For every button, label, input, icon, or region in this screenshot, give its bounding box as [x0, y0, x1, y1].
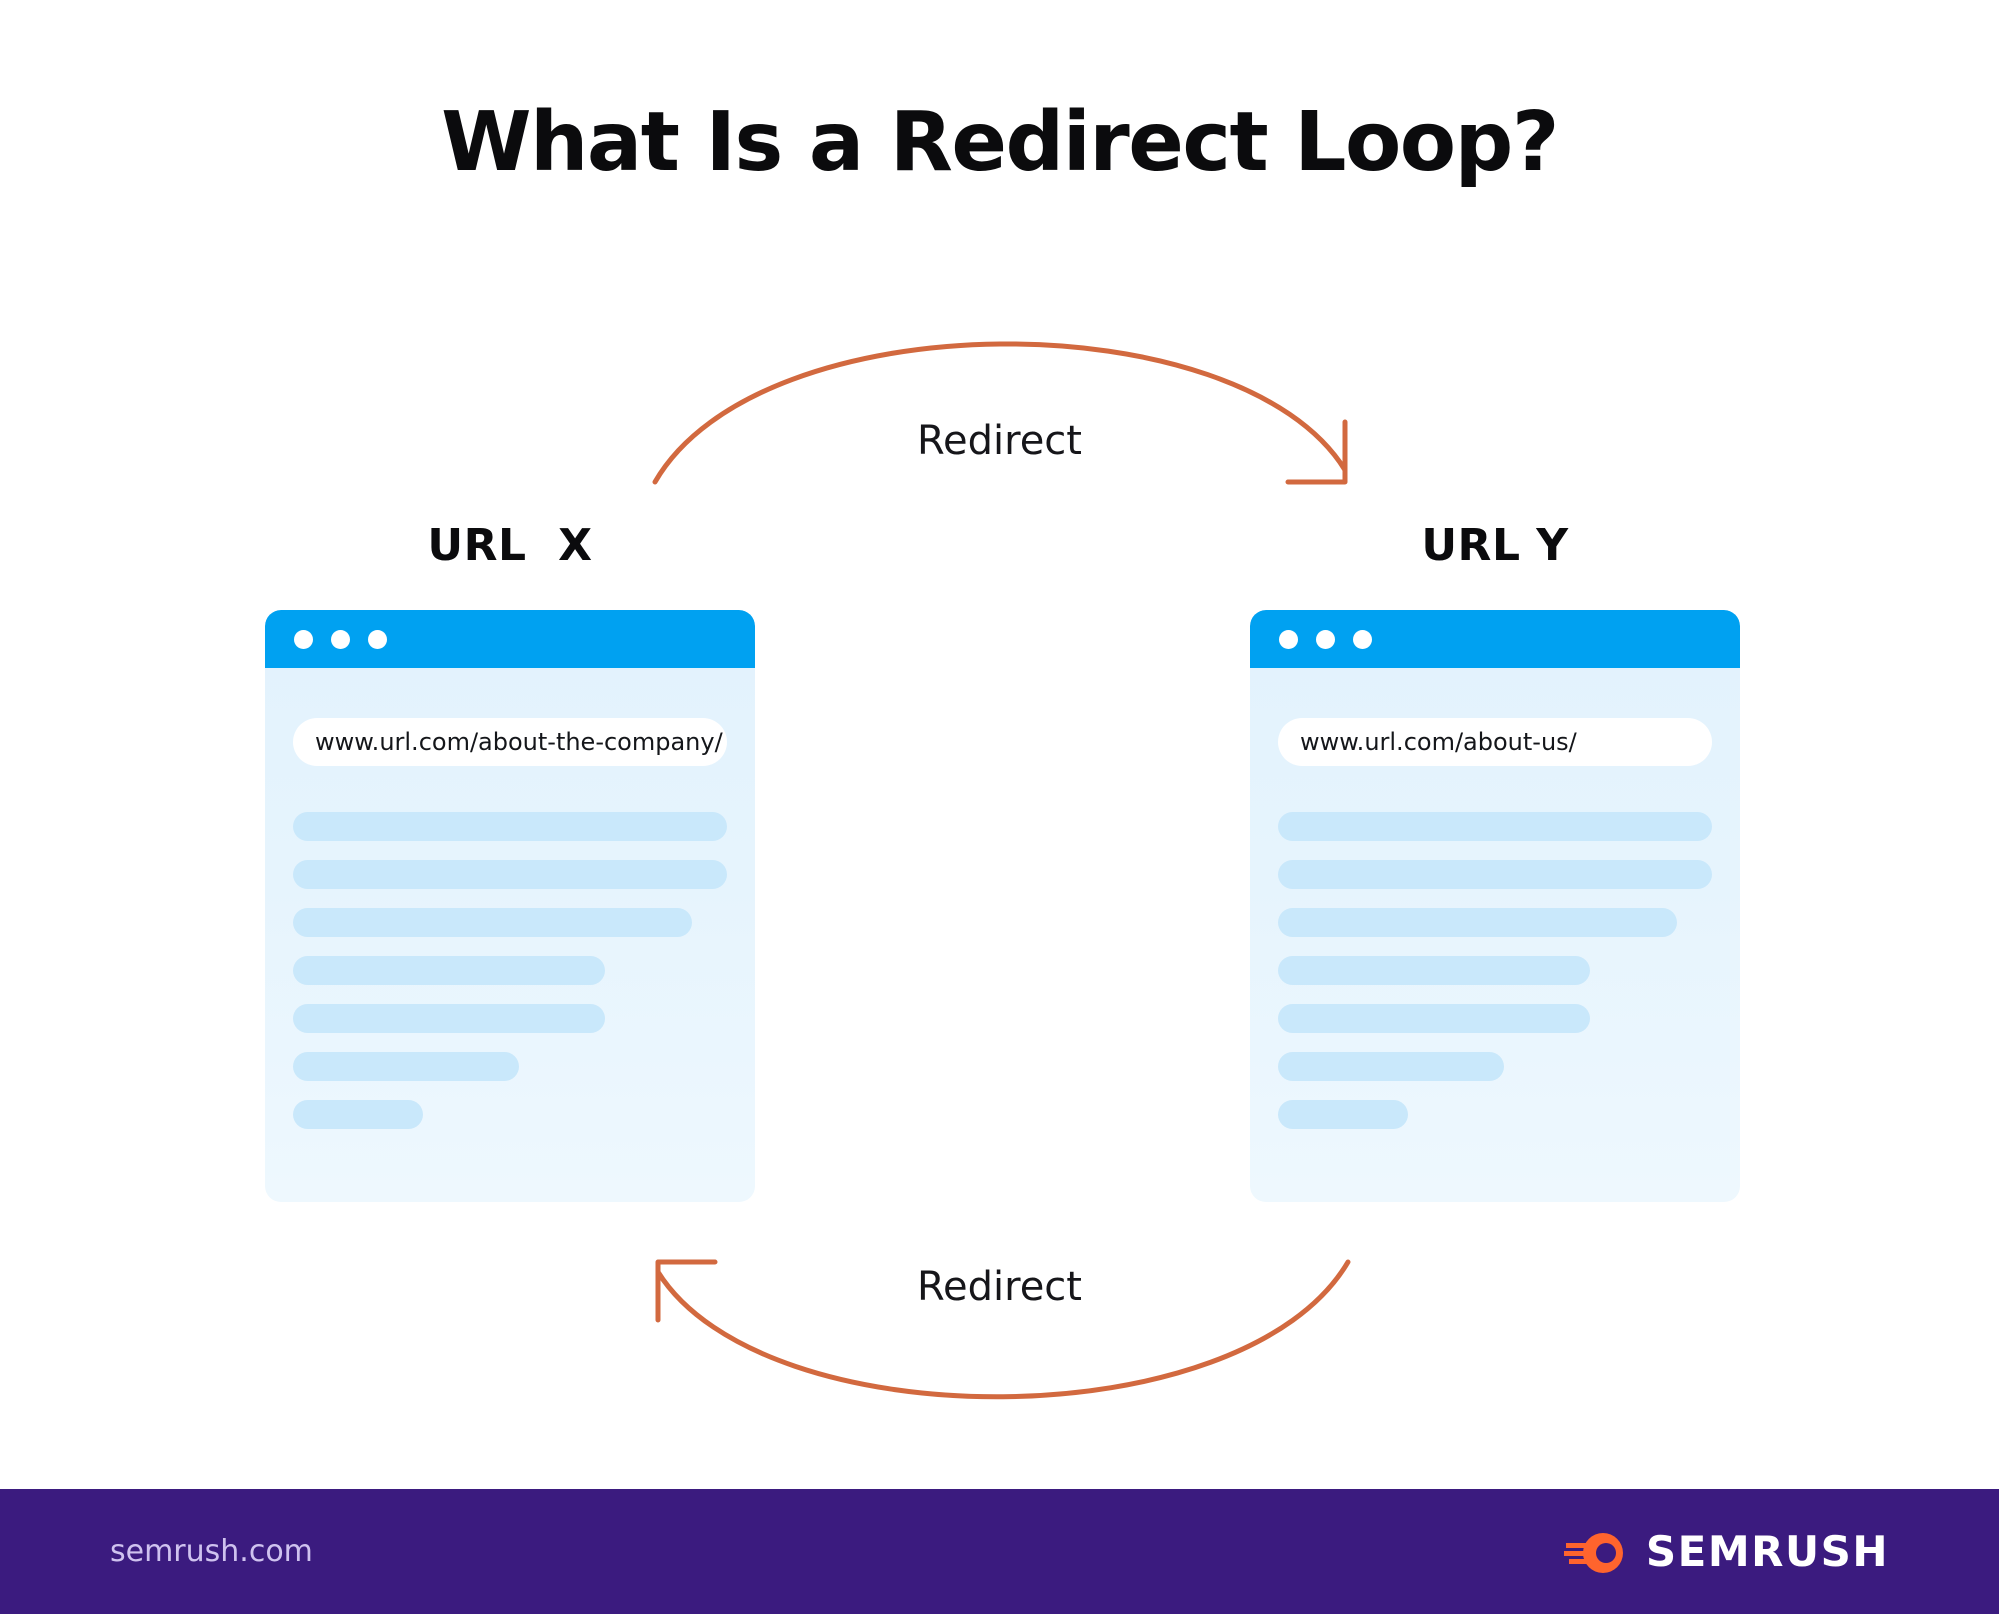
semrush-logo: SEMRUSH	[1564, 1527, 1889, 1576]
footer-bar: semrush.com SEMRUSH	[0, 1489, 1999, 1614]
content-bar	[293, 812, 727, 841]
window-dot-icon	[1353, 630, 1372, 649]
window-dot-icon	[368, 630, 387, 649]
content-bar	[1278, 1100, 1408, 1129]
window-dot-icon	[294, 630, 313, 649]
content-bar	[293, 956, 605, 985]
content-placeholder-lines	[1278, 812, 1712, 1148]
footer-site-link[interactable]: semrush.com	[110, 1534, 313, 1569]
redirect-loop-diagram: Redirect Redirect URL X URL Y www.url.co…	[0, 0, 1999, 1490]
url-y-caption: URL Y	[1250, 520, 1740, 571]
semrush-wordmark: SEMRUSH	[1646, 1527, 1889, 1576]
content-bar	[1278, 812, 1712, 841]
browser-title-bar	[265, 610, 755, 668]
content-bar	[293, 1004, 605, 1033]
semrush-comet-icon	[1564, 1530, 1626, 1574]
window-dot-icon	[1316, 630, 1335, 649]
content-bar	[293, 1100, 423, 1129]
browser-title-bar	[1250, 610, 1740, 668]
address-bar-text: www.url.com/about-us/	[1300, 728, 1577, 756]
window-dot-icon	[331, 630, 350, 649]
content-bar	[293, 1052, 519, 1081]
content-bar	[1278, 1004, 1590, 1033]
content-bar	[293, 908, 692, 937]
content-bar	[293, 860, 727, 889]
address-bar-url-x[interactable]: www.url.com/about-the-company/	[293, 718, 727, 766]
top-redirect-label: Redirect	[0, 418, 1999, 464]
browser-window-url-x: www.url.com/about-the-company/	[265, 610, 755, 1202]
content-placeholder-lines	[293, 812, 727, 1148]
bottom-redirect-label: Redirect	[0, 1264, 1999, 1310]
address-bar-text: www.url.com/about-the-company/	[315, 728, 723, 756]
address-bar-url-y[interactable]: www.url.com/about-us/	[1278, 718, 1712, 766]
url-x-caption: URL X	[265, 520, 755, 571]
window-dot-icon	[1279, 630, 1298, 649]
content-bar	[1278, 1052, 1504, 1081]
content-bar	[1278, 860, 1712, 889]
infographic-canvas: What Is a Redirect Loop? Redirect Redire…	[0, 0, 1999, 1614]
browser-window-url-y: www.url.com/about-us/	[1250, 610, 1740, 1202]
content-bar	[1278, 956, 1590, 985]
content-bar	[1278, 908, 1677, 937]
